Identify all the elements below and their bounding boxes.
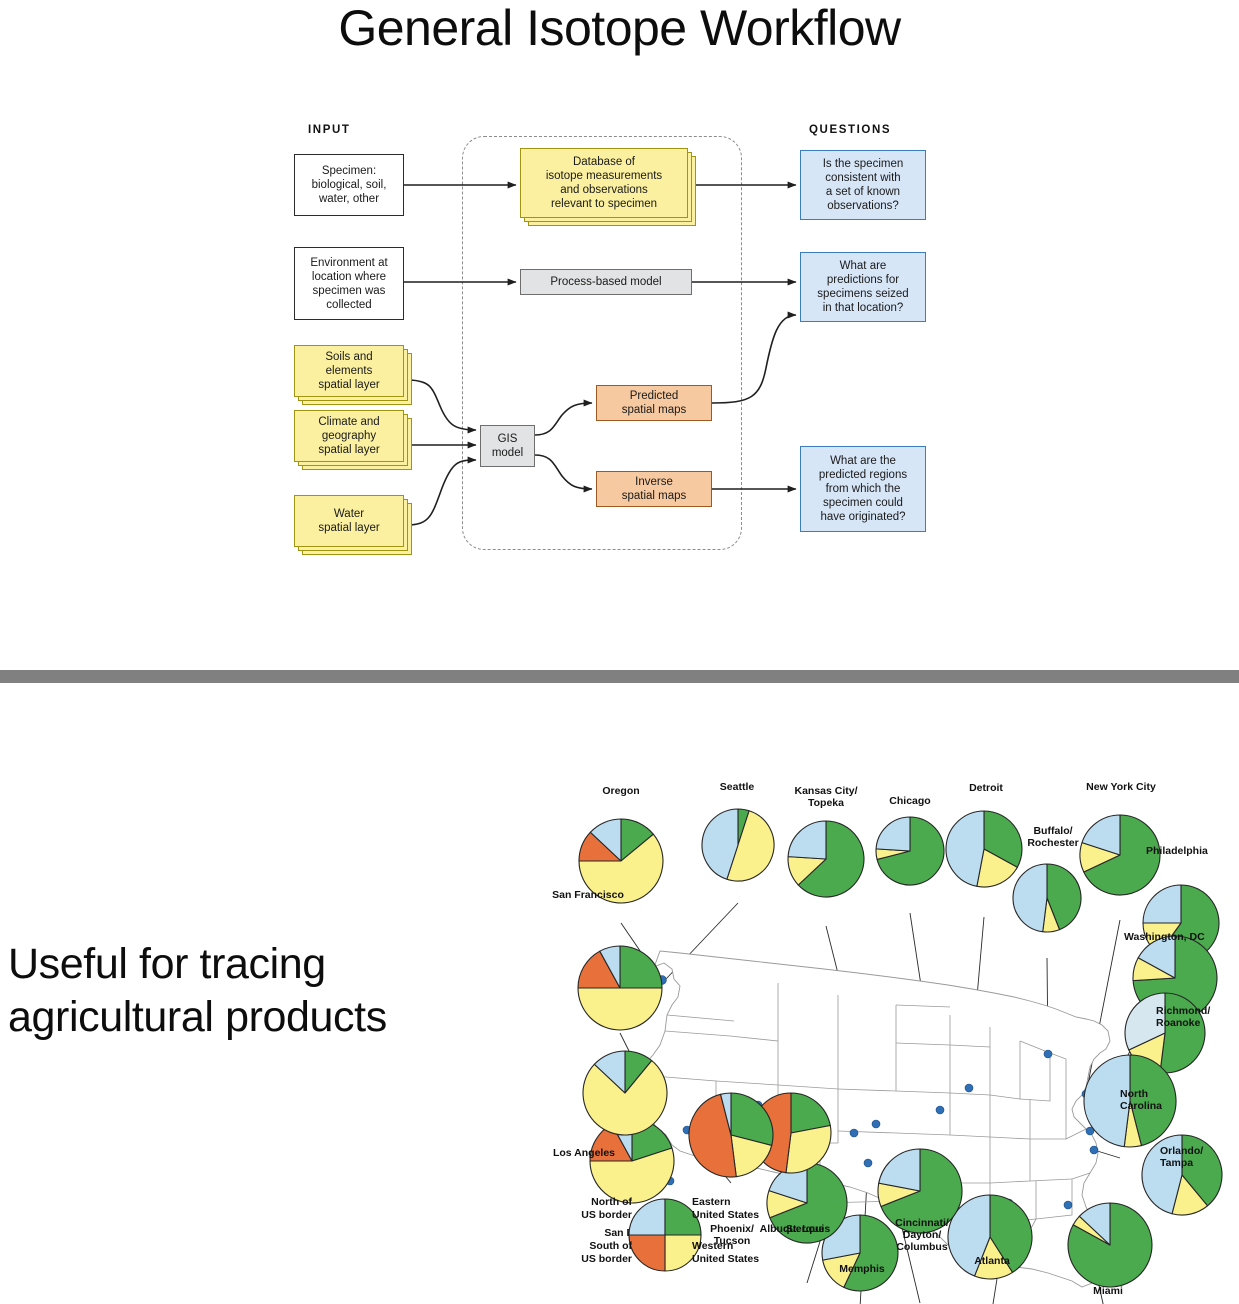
node-question-predictions-label: What are predictions for specimens seize… <box>817 259 908 315</box>
legend-label-north-of-us-border: North of US border <box>550 1196 632 1221</box>
node-database: Database of isotope measurements and obs… <box>520 148 698 228</box>
pie-12 <box>1068 1203 1152 1287</box>
pie-2 <box>788 821 864 897</box>
node-climate-label: Climate and geography spatial layer <box>318 415 379 457</box>
pie-label-oregon: Oregon <box>576 785 666 797</box>
node-gis-model-label: GIS model <box>492 432 523 460</box>
node-database-label: Database of isotope measurements and obs… <box>546 155 662 211</box>
pie-label-atlanta: Atlanta <box>954 1255 1030 1267</box>
pie-label-memphis: Memphis <box>820 1263 904 1275</box>
pie-label-chicago: Chicago <box>872 795 948 807</box>
node-inverse-spatial-maps: Inverse spatial maps <box>596 471 712 507</box>
pie-label-kansas-city: Kansas City/ Topeka <box>778 785 874 809</box>
node-inverse-spatial-maps-label: Inverse spatial maps <box>622 475 687 503</box>
node-question-regions: What are the predicted regions from whic… <box>800 446 926 532</box>
node-specimen: Specimen: biological, soil, water, other <box>294 154 404 216</box>
node-gis-model: GIS model <box>480 425 535 467</box>
pie-label-cincinnati: Cincinnati/ Dayton/ Columbus <box>876 1217 968 1253</box>
page-title: General Isotope Workflow <box>0 0 1239 58</box>
node-process-based-model-label: Process-based model <box>550 275 661 289</box>
pie-label-orlando: Orlando/ Tampa <box>1160 1145 1239 1169</box>
us-origin-pie-map: Oregon Seattle Kansas City/ Topeka Chica… <box>520 783 1239 1304</box>
column-header-input: INPUT <box>308 124 351 136</box>
pie-1 <box>702 809 774 881</box>
legend-label-south-of-us-border: South of US border <box>550 1240 632 1265</box>
slide-divider-bar <box>0 670 1239 683</box>
node-environment: Environment at location where specimen w… <box>294 247 404 320</box>
pie-4 <box>946 811 1022 887</box>
workflow-diagram: INPUT QUESTIONS <box>280 110 960 580</box>
node-water-layer: Water spatial layer <box>294 495 416 557</box>
pie-18 <box>689 1093 773 1177</box>
pie-label-miami: Miami <box>1060 1285 1156 1297</box>
pie-label-north-carolina: North Carolina <box>1120 1088 1204 1112</box>
pie-label-san-francisco: San Francisco <box>540 889 636 901</box>
node-question-regions-label: What are the predicted regions from whic… <box>819 454 907 524</box>
pie-20 <box>583 1051 667 1135</box>
node-water-label: Water spatial layer <box>318 507 379 535</box>
column-header-questions: QUESTIONS <box>809 124 891 136</box>
pie-label-seattle: Seattle <box>692 781 782 793</box>
node-soils-layer: Soils and elements spatial layer <box>294 345 416 407</box>
pie-label-richmond: Richmond/ Roanoke <box>1156 1005 1239 1029</box>
pie-label-washington-dc: Washington, DC <box>1124 931 1228 943</box>
node-question-predictions: What are predictions for specimens seize… <box>800 252 926 322</box>
pie-label-detroit: Detroit <box>948 782 1024 794</box>
pie-label-buffalo: Buffalo/ Rochester <box>1010 825 1096 849</box>
pie-label-new-york-city: New York City <box>1072 781 1170 793</box>
node-environment-label: Environment at location where specimen w… <box>310 256 387 312</box>
slide-isotope-workflow: General Isotope Workflow INPUT QUESTIONS <box>0 0 1239 670</box>
pie-label-los-angeles: Los Angeles <box>538 1147 630 1159</box>
legend-label-western-united-states: Western United States <box>692 1240 787 1265</box>
slide-agricultural-tracing: Useful for tracing agricultural products <box>0 683 1239 1304</box>
node-specimen-label: Specimen: biological, soil, water, other <box>312 164 387 206</box>
tagline: Useful for tracing agricultural products <box>8 938 508 1044</box>
node-predicted-spatial-maps-label: Predicted spatial maps <box>622 389 687 417</box>
legend-label-eastern-united-states: Eastern United States <box>692 1196 787 1221</box>
node-question-consistency: Is the specimen consistent with a set of… <box>800 150 926 220</box>
pie-21 <box>578 946 662 1030</box>
node-question-consistency-label: Is the specimen consistent with a set of… <box>823 157 904 213</box>
pie-5 <box>1013 864 1081 932</box>
pie-label-philadelphia: Philadelphia <box>1146 845 1239 857</box>
node-soils-label: Soils and elements spatial layer <box>318 350 379 392</box>
map-legend: North of US border Eastern United States… <box>550 1178 780 1293</box>
node-process-based-model: Process-based model <box>520 269 692 295</box>
pie-3 <box>876 817 944 885</box>
node-climate-layer: Climate and geography spatial layer <box>294 410 416 472</box>
node-predicted-spatial-maps: Predicted spatial maps <box>596 385 712 421</box>
